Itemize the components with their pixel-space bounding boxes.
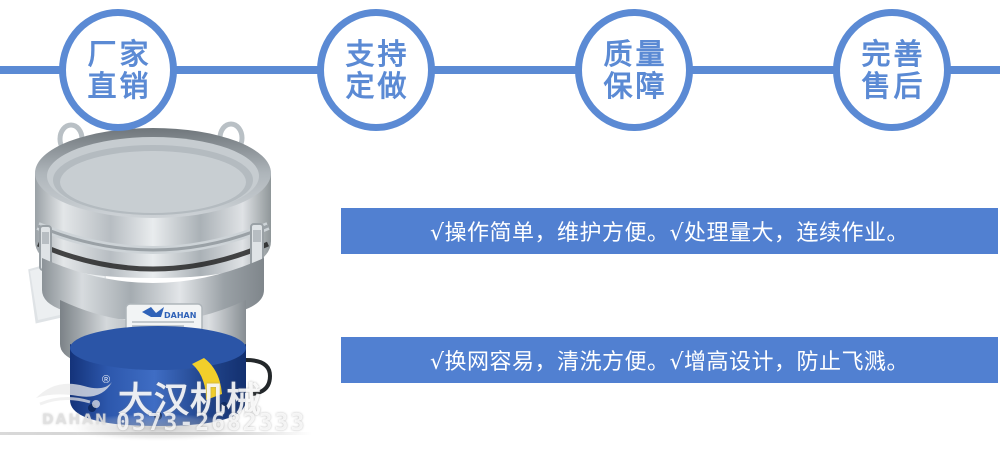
connector-line-1 <box>172 66 322 74</box>
feature-banner-mesh: √换网容易，清洗方便。√增高设计，防止飞溅。 <box>341 337 998 383</box>
badge-factory-direct[interactable]: 厂家 直销 <box>59 9 177 131</box>
feature-banner-mesh-text: √换网容易，清洗方便。√增高设计，防止飞溅。 <box>430 344 909 376</box>
badge-after-sales[interactable]: 完善 售后 <box>833 9 951 131</box>
product-photo-vibrating-sieve: DAHAN <box>8 108 298 443</box>
power-cable <box>246 360 270 394</box>
feature-banner-operation-text: √操作简单，维护方便。√处理量大，连续作业。 <box>430 215 909 247</box>
base-bolt <box>88 404 96 412</box>
badge-custom-support-line1: 支持 <box>342 38 409 70</box>
feature-banner-operation: √操作简单，维护方便。√处理量大，连续作业。 <box>341 208 998 254</box>
badge-quality-guarantee-line2: 保障 <box>600 70 667 102</box>
badge-quality-guarantee[interactable]: 质量 保障 <box>575 9 693 131</box>
badge-custom-support-line2: 定做 <box>342 70 409 102</box>
connector-line-2 <box>430 66 580 74</box>
badge-factory-direct-line2: 直销 <box>84 70 151 102</box>
badge-factory-direct-line1: 厂家 <box>84 38 151 70</box>
motor-base-top <box>70 326 246 370</box>
feature-strip: 厂家 直销 支持 定做 质量 保障 完善 售后 <box>0 0 1000 140</box>
connector-line-3 <box>688 66 838 74</box>
badge-custom-support[interactable]: 支持 定做 <box>317 9 435 131</box>
connector-line-4 <box>946 66 1000 74</box>
connector-line-0 <box>0 66 64 74</box>
promo-banner-page: 厂家 直销 支持 定做 质量 保障 完善 售后 <box>0 0 1000 461</box>
svg-text:DAHAN: DAHAN <box>164 311 196 320</box>
badge-after-sales-line1: 完善 <box>858 38 925 70</box>
badge-quality-guarantee-line1: 质量 <box>600 38 667 70</box>
badge-after-sales-line2: 售后 <box>858 70 925 102</box>
floor-shadow <box>62 414 254 442</box>
base-bolt <box>220 402 228 410</box>
